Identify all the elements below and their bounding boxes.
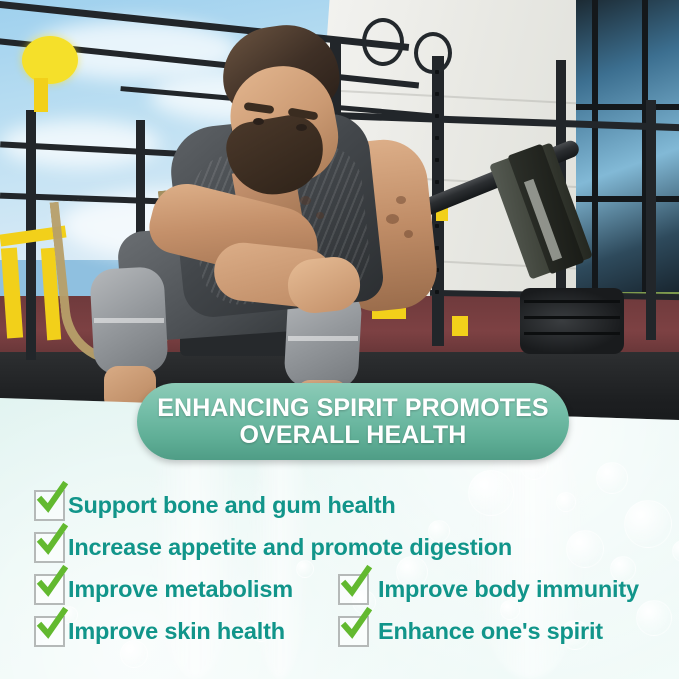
benefit-label: Increase appetite and promote digestion <box>68 534 512 561</box>
check-icon <box>341 567 371 599</box>
banner-title: ENHANCING SPIRIT PROMOTES OVERALL HEALTH <box>143 395 562 449</box>
check-icon <box>341 609 371 641</box>
check-icon <box>37 483 67 515</box>
knee-sleeve-band <box>94 318 164 323</box>
athlete-eye <box>253 118 264 125</box>
athlete-figure <box>0 0 679 430</box>
knee-sleeve-band <box>288 336 358 341</box>
checkbox-icon <box>338 574 369 605</box>
benefit-label: Improve body immunity <box>378 576 639 603</box>
checkbox-icon <box>34 532 65 563</box>
check-icon <box>37 609 67 641</box>
banner-title-line-1: ENHANCING SPIRIT PROMOTES <box>157 394 548 422</box>
benefits-list: Support bone and gum health Increase app… <box>0 484 679 652</box>
benefit-item: Improve body immunity <box>338 574 639 605</box>
skin-mark <box>300 196 311 205</box>
banner-title-line-2: OVERALL HEALTH <box>240 421 467 449</box>
benefit-item: Support bone and gum health <box>34 490 396 521</box>
benefit-row: Support bone and gum health <box>0 484 679 526</box>
benefit-item: Increase appetite and promote digestion <box>34 532 512 563</box>
benefit-label: Improve skin health <box>68 618 285 645</box>
skin-mark <box>396 196 406 204</box>
benefit-label: Enhance one's spirit <box>378 618 603 645</box>
product-infographic: ENHANCING SPIRIT PROMOTES OVERALL HEALTH… <box>0 0 679 679</box>
checkbox-icon <box>34 490 65 521</box>
checkbox-icon <box>34 574 65 605</box>
benefit-item: Improve skin health <box>34 616 330 647</box>
benefit-label: Improve metabolism <box>68 576 293 603</box>
check-icon <box>37 567 67 599</box>
skin-mark <box>316 212 324 219</box>
checkbox-icon <box>338 616 369 647</box>
skin-mark <box>404 230 413 238</box>
hero-photo <box>0 0 679 430</box>
benefit-label: Support bone and gum health <box>68 492 396 519</box>
checkbox-icon <box>34 616 65 647</box>
benefit-row: Improve metabolism Improve body immunity <box>0 568 679 610</box>
check-icon <box>37 525 67 557</box>
benefit-row: Increase appetite and promote digestion <box>0 526 679 568</box>
banner-pill: ENHANCING SPIRIT PROMOTES OVERALL HEALTH <box>137 383 569 460</box>
skin-mark <box>386 214 399 224</box>
benefit-row: Improve skin health Enhance one's spirit <box>0 610 679 652</box>
benefit-item: Improve metabolism <box>34 574 330 605</box>
benefit-item: Enhance one's spirit <box>338 616 603 647</box>
athlete-eye <box>296 124 307 131</box>
